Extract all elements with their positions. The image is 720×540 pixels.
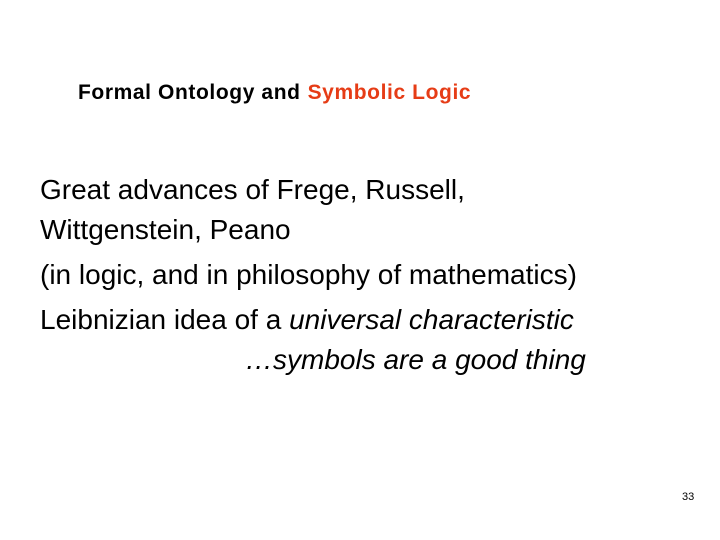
body-text-leibnizian-roman: Leibnizian idea of a [40,304,281,335]
page-title-accent-part: Symbolic Logic [308,81,472,104]
page-number: 33 [682,490,694,504]
body-line-advances-1: Great advances of Frege, Russell, [40,170,690,210]
body-paragraph-advances: Great advances of Frege, Russell, Wittge… [40,170,690,250]
body-text-universal-characteristic-italic: universal characteristic [289,304,574,335]
slide-canvas: Formal Ontology andSymbolic Logic Great … [0,0,720,540]
body-line-leibnizian: Leibnizian idea of a universal character… [40,300,690,340]
slide-body: Great advances of Frege, Russell, Wittge… [40,170,690,380]
body-line-parenthetical: (in logic, and in philosophy of mathemat… [40,255,690,295]
body-paragraph-parenthetical: (in logic, and in philosophy of mathemat… [40,255,690,295]
body-paragraph-leibnizian: Leibnizian idea of a universal character… [40,300,690,380]
body-line-advances-2: Wittgenstein, Peano [40,210,690,250]
page-title-black-part: Formal Ontology and [78,81,301,104]
body-line-symbols-good-thing: …symbols are a good thing [40,340,690,380]
page-title: Formal Ontology andSymbolic Logic [78,80,658,106]
